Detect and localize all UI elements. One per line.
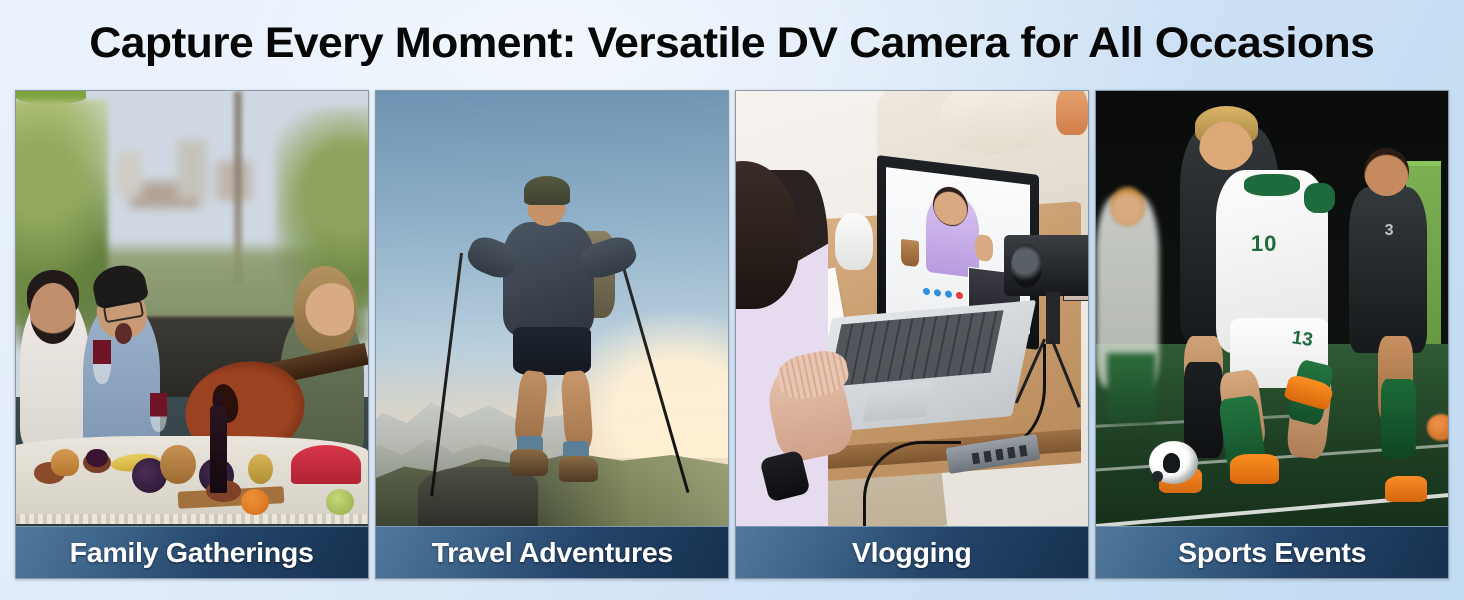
terracotta-vase xyxy=(1056,91,1088,135)
background-player-legs xyxy=(1107,353,1156,423)
camera-dot-icon[interactable] xyxy=(934,289,941,297)
banner-header: Capture Every Moment: Versatile DV Camer… xyxy=(0,0,1464,86)
caption-label: Vlogging xyxy=(852,537,972,569)
green-apple xyxy=(326,489,354,515)
panel-vlogging[interactable]: Vlogging xyxy=(735,90,1089,579)
pear xyxy=(248,454,273,485)
caption-bar-sports-events: Sports Events xyxy=(1096,526,1448,578)
main-player-collar xyxy=(1244,174,1300,196)
hiker-jacket xyxy=(503,222,595,336)
participant-waving-hand xyxy=(975,234,993,262)
caption-bar-vlogging: Vlogging xyxy=(736,526,1088,578)
watermelon-slice xyxy=(291,445,361,484)
smart-speaker xyxy=(835,213,874,270)
blanket-fringe xyxy=(16,514,368,524)
defender-1-head xyxy=(1198,113,1254,170)
photo-family-gatherings xyxy=(16,91,368,528)
soccer-ball-panel-1 xyxy=(1163,453,1181,473)
defender-1-sock xyxy=(1184,362,1223,458)
foreground-rock xyxy=(418,467,538,528)
mic-dot-icon[interactable] xyxy=(923,287,930,295)
soccer-ball-panel-2 xyxy=(1152,471,1163,482)
photo-travel-adventures xyxy=(376,91,728,528)
camera-lens xyxy=(1011,244,1043,288)
person-left-head xyxy=(30,283,76,344)
bread-loaf xyxy=(160,445,195,484)
tripod-column xyxy=(1046,292,1060,344)
main-player-boot-left xyxy=(1230,454,1279,485)
panel-sports-events[interactable]: 3 10 13 Sports Events xyxy=(1095,90,1449,579)
coffee-cup-on-screen xyxy=(901,238,919,266)
defender-2-head xyxy=(1364,148,1410,196)
photo-vlogging xyxy=(736,91,1088,528)
person-right-head xyxy=(301,275,354,345)
caption-bar-family-gatherings: Family Gatherings xyxy=(16,526,368,578)
caption-label: Family Gatherings xyxy=(70,537,314,569)
photo-sports-events: 3 10 13 xyxy=(1096,91,1448,528)
berries xyxy=(86,449,107,466)
caption-bar-travel-adventures: Travel Adventures xyxy=(376,526,728,578)
defender-2-jersey-number: 3 xyxy=(1385,222,1420,261)
defender-2-sock xyxy=(1381,379,1416,458)
wine-bottle xyxy=(210,406,228,493)
laptop-trackpad xyxy=(863,381,934,422)
hiking-boot-left xyxy=(510,449,549,475)
share-dot-icon[interactable] xyxy=(945,290,952,298)
main-player-shoulder-stripe xyxy=(1304,183,1336,214)
hiker-beanie xyxy=(524,176,570,204)
city-skyline-blur xyxy=(93,117,304,248)
hiking-boot-right xyxy=(559,456,598,482)
hiker-shorts xyxy=(513,327,590,375)
caption-label: Sports Events xyxy=(1178,537,1366,569)
caption-label: Travel Adventures xyxy=(431,537,672,569)
secondary-ball xyxy=(1427,414,1448,440)
hiker-leg-right xyxy=(560,370,594,450)
wine-glass-2 xyxy=(150,393,168,432)
page-title: Capture Every Moment: Versatile DV Camer… xyxy=(90,19,1375,68)
croissant xyxy=(51,449,79,475)
use-case-panel-strip: Family Gatherings xyxy=(15,90,1449,579)
wine-glass-1 xyxy=(93,340,111,384)
defender-2-boot xyxy=(1385,476,1427,502)
panel-travel-adventures[interactable]: Travel Adventures xyxy=(375,90,729,579)
panel-family-gatherings[interactable]: Family Gatherings xyxy=(15,90,369,579)
defender-2-body xyxy=(1349,187,1426,353)
end-call-dot-icon[interactable] xyxy=(956,291,963,299)
main-player-shirt-number: 10 xyxy=(1251,231,1328,283)
